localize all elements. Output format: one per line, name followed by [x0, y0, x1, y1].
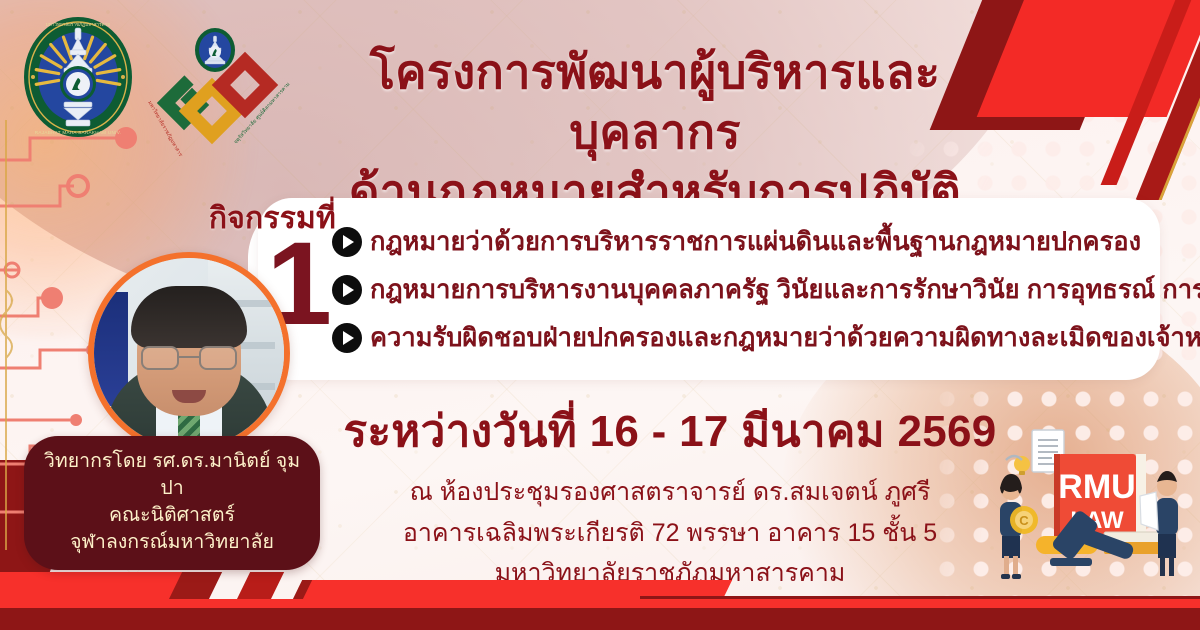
title-line-1: โครงการพัฒนาผู้บริหารและบุคลากร: [300, 42, 1010, 162]
photo-hair: [131, 286, 247, 348]
lightbulb-icon: [1006, 456, 1030, 475]
topic-text: กฎหมายว่าด้วยการบริหารราชการแผ่นดินและพื…: [370, 228, 1141, 256]
event-banner: มหาวิทยาลัยราชภัฏมหาสารคาม RAJABHAT MAHA…: [0, 0, 1200, 630]
photo-eyeglasses: [141, 346, 237, 370]
university-seal-logo: มหาวิทยาลัยราชภัฏมหาสารคาม RAJABHAT MAHA…: [22, 16, 134, 138]
speaker-info-card: วิทยากรโดย รศ.ดร.มานิตย์ จุมปา คณะนิติศา…: [24, 436, 320, 570]
list-item: กฎหมายว่าด้วยการบริหารราชการแผ่นดินและพื…: [332, 218, 1172, 266]
list-item: กฎหมายการบริหารงานบุคคลภาครัฐ วินัยและกา…: [332, 266, 1172, 314]
topic-text: ความรับผิดชอบฝ่ายปกครองและกฎหมายว่าด้วยค…: [370, 324, 1200, 352]
venue-line-2: อาคารเฉลิมพระเกียรติ 72 พรรษา อาคาร 15 ช…: [330, 513, 1010, 554]
play-arrow-icon: [332, 275, 362, 305]
bottom-dark-stripe: [0, 608, 1200, 630]
copyright-symbol: C: [1019, 513, 1029, 528]
book-title: RMU: [1058, 468, 1135, 506]
rmu-law-illustration: RMU LAW: [980, 424, 1192, 596]
event-venue: ณ ห้องประชุมรองศาสตราจารย์ ดร.สมเจตน์ ภู…: [330, 472, 1010, 594]
play-arrow-icon: [332, 227, 362, 257]
event-date: ระหว่างวันที่ 16 - 17 มีนาคม 2569: [340, 408, 1000, 456]
play-arrow-icon: [332, 323, 362, 353]
anniversary-logo: มหาวิทยาลัยราชภัฏมหาสารคาม จตุรัสวิทยาลั…: [140, 28, 290, 156]
topic-list: กฎหมายว่าด้วยการบริหารราชการแผ่นดินและพื…: [332, 218, 1172, 362]
topic-text: กฎหมายการบริหารงานบุคคลภาครัฐ วินัยและกา…: [370, 276, 1200, 304]
speaker-photo: [88, 252, 290, 454]
seal-thai-text: มหาวิทยาลัยราชภัฏมหาสารคาม: [46, 21, 110, 28]
list-item: ความรับผิดชอบฝ่ายปกครองและกฎหมายว่าด้วยค…: [332, 314, 1172, 362]
seal-english-text: RAJABHAT MAHA SARAKHAM UNIV.: [35, 130, 121, 135]
speaker-institution: จุฬาลงกรณ์มหาวิทยาลัย: [42, 529, 302, 556]
venue-line-1: ณ ห้องประชุมรองศาสตราจารย์ ดร.สมเจตน์ ภู…: [330, 472, 1010, 513]
person-left: C: [1000, 474, 1038, 579]
speaker-faculty: คณะนิติศาสตร์: [42, 502, 302, 529]
speaker-name: วิทยากรโดย รศ.ดร.มานิตย์ จุมปา: [42, 448, 302, 502]
